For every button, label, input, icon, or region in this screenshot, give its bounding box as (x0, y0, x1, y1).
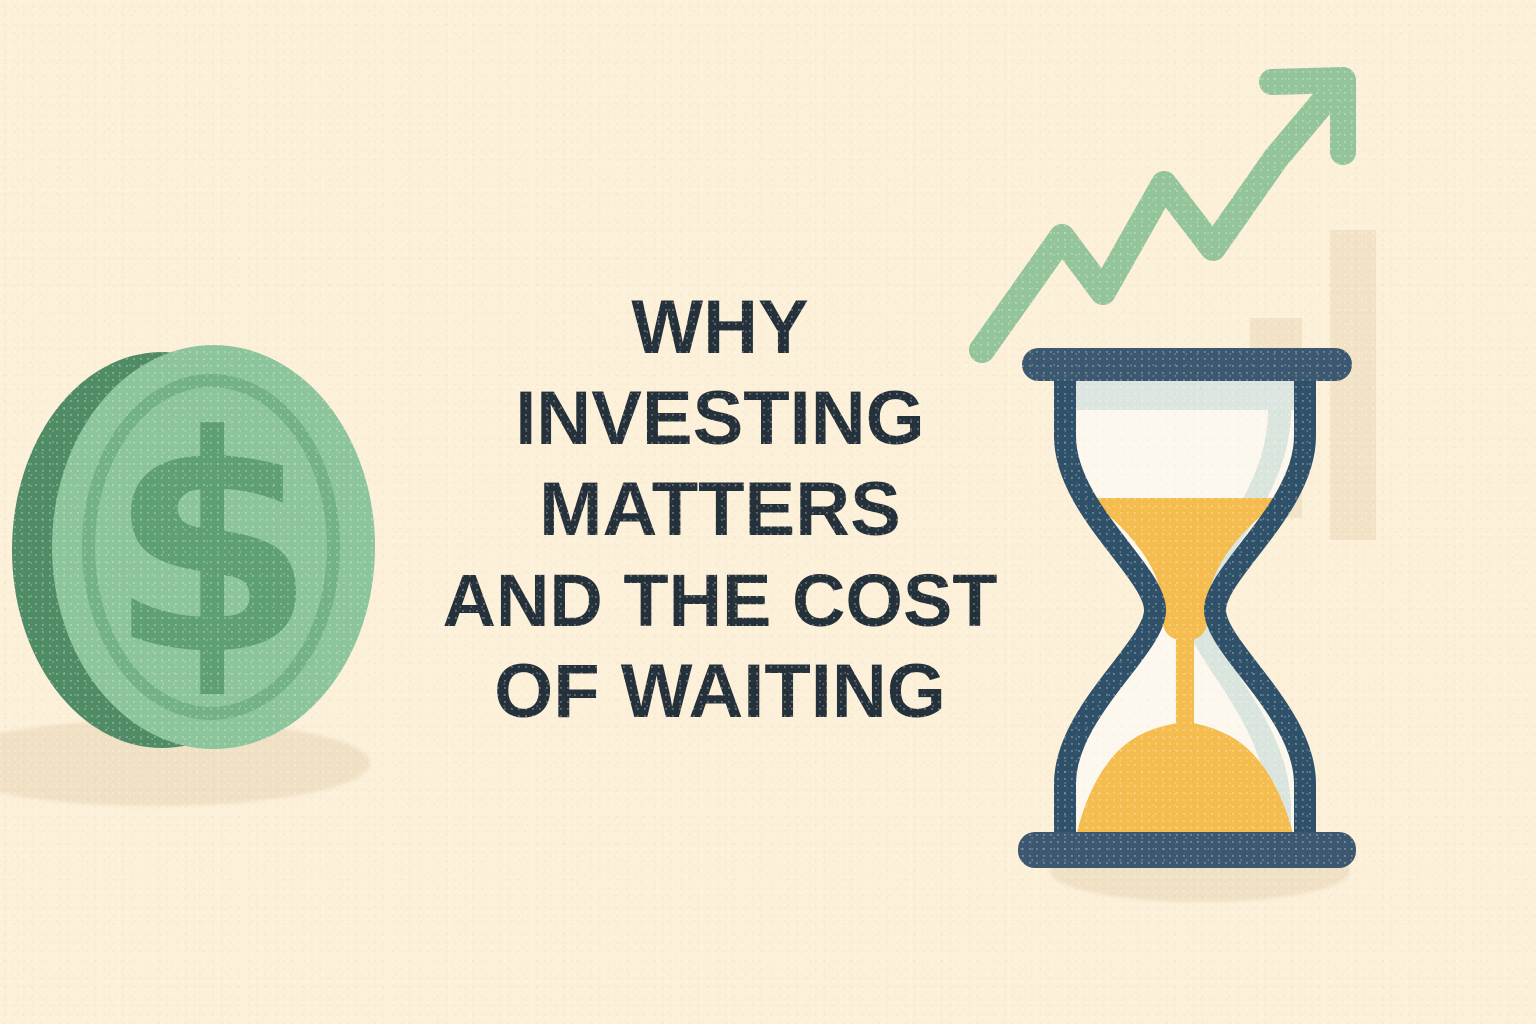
hourglass-sand-top (1084, 498, 1286, 640)
hourglass-sand-stream (1176, 632, 1194, 728)
dollar-sign-icon: $ (82, 374, 340, 720)
hourglass-body (1010, 340, 1360, 880)
hourglass-icon (1010, 340, 1360, 880)
upward-trend-arrow-icon (940, 40, 1410, 380)
dollar-coin-illustration: $ (0, 330, 400, 800)
poster-canvas: $ WHY INVESTING MATTERS AND THE COST OF … (0, 0, 1536, 1024)
growth-chart-illustration (940, 40, 1460, 960)
hourglass-top-cap (1022, 348, 1352, 381)
hourglass-base-cap (1018, 832, 1356, 868)
